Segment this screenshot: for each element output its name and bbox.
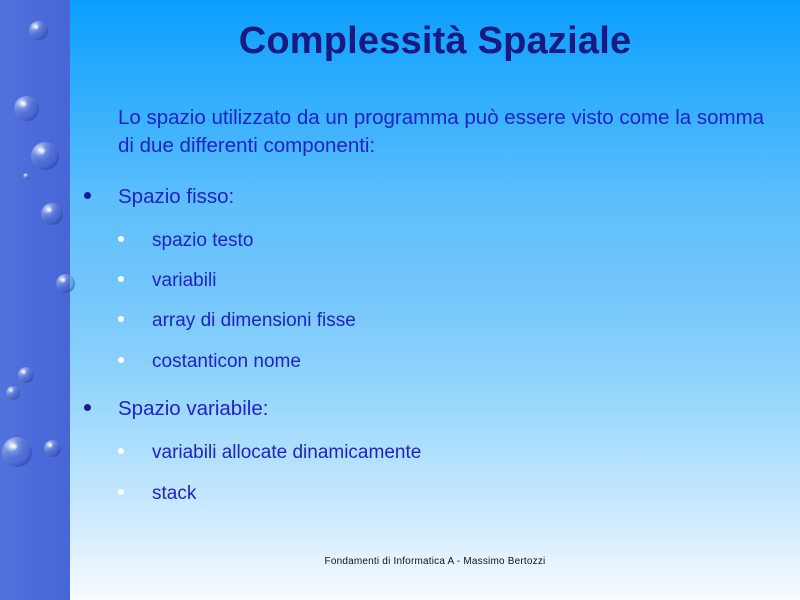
bullet-item-level1: Spazio fisso: xyxy=(84,185,234,209)
bullet-item-level1: Spazio variabile: xyxy=(84,397,268,421)
decorative-sidebar xyxy=(0,0,70,600)
bullet-item-level2: spazio testo xyxy=(118,230,253,252)
bubble-decoration xyxy=(29,21,48,40)
bubble-decoration xyxy=(41,203,63,225)
slide: Complessità Spaziale Lo spazio utilizzat… xyxy=(0,0,800,600)
bubble-decoration xyxy=(2,437,32,467)
bullet-label: stack xyxy=(152,483,196,505)
bubble-decoration xyxy=(18,367,34,383)
bullet-label: variabili xyxy=(152,270,216,292)
bullet-dot-icon xyxy=(84,404,91,411)
bullet-dot-icon xyxy=(118,236,124,242)
bullet-label: Spazio fisso: xyxy=(118,185,234,209)
slide-title: Complessità Spaziale xyxy=(70,20,800,63)
bullet-dot-icon xyxy=(118,489,124,495)
bullet-label: costanticon nome xyxy=(152,351,301,373)
bullet-item-level2: variabili allocate dinamicamente xyxy=(118,442,421,464)
bubble-decoration xyxy=(23,173,30,180)
bubble-decoration xyxy=(31,142,59,170)
bullet-dot-icon xyxy=(118,276,124,282)
bullet-dot-icon xyxy=(118,316,124,322)
bullet-dot-icon xyxy=(118,448,124,454)
bullet-label: variabili allocate dinamicamente xyxy=(152,442,421,464)
bullet-item-level2: variabili xyxy=(118,270,216,292)
bubble-decoration xyxy=(44,440,61,457)
bubble-decoration xyxy=(6,386,20,400)
bullet-item-level2: stack xyxy=(118,483,196,505)
bullet-item-level2: array di dimensioni fisse xyxy=(118,310,356,332)
bubble-decoration xyxy=(14,96,39,121)
bullet-label: spazio testo xyxy=(152,230,253,252)
intro-paragraph: Lo spazio utilizzato da un programma può… xyxy=(118,104,778,161)
slide-footer: Fondamenti di Informatica A - Massimo Be… xyxy=(70,556,800,567)
bullet-item-level2: costanticon nome xyxy=(118,351,301,373)
bullet-dot-icon xyxy=(118,357,124,363)
bubble-decoration xyxy=(56,274,75,293)
bullet-label: array di dimensioni fisse xyxy=(152,310,356,332)
bullet-label: Spazio variabile: xyxy=(118,397,268,421)
bullet-dot-icon xyxy=(84,192,91,199)
